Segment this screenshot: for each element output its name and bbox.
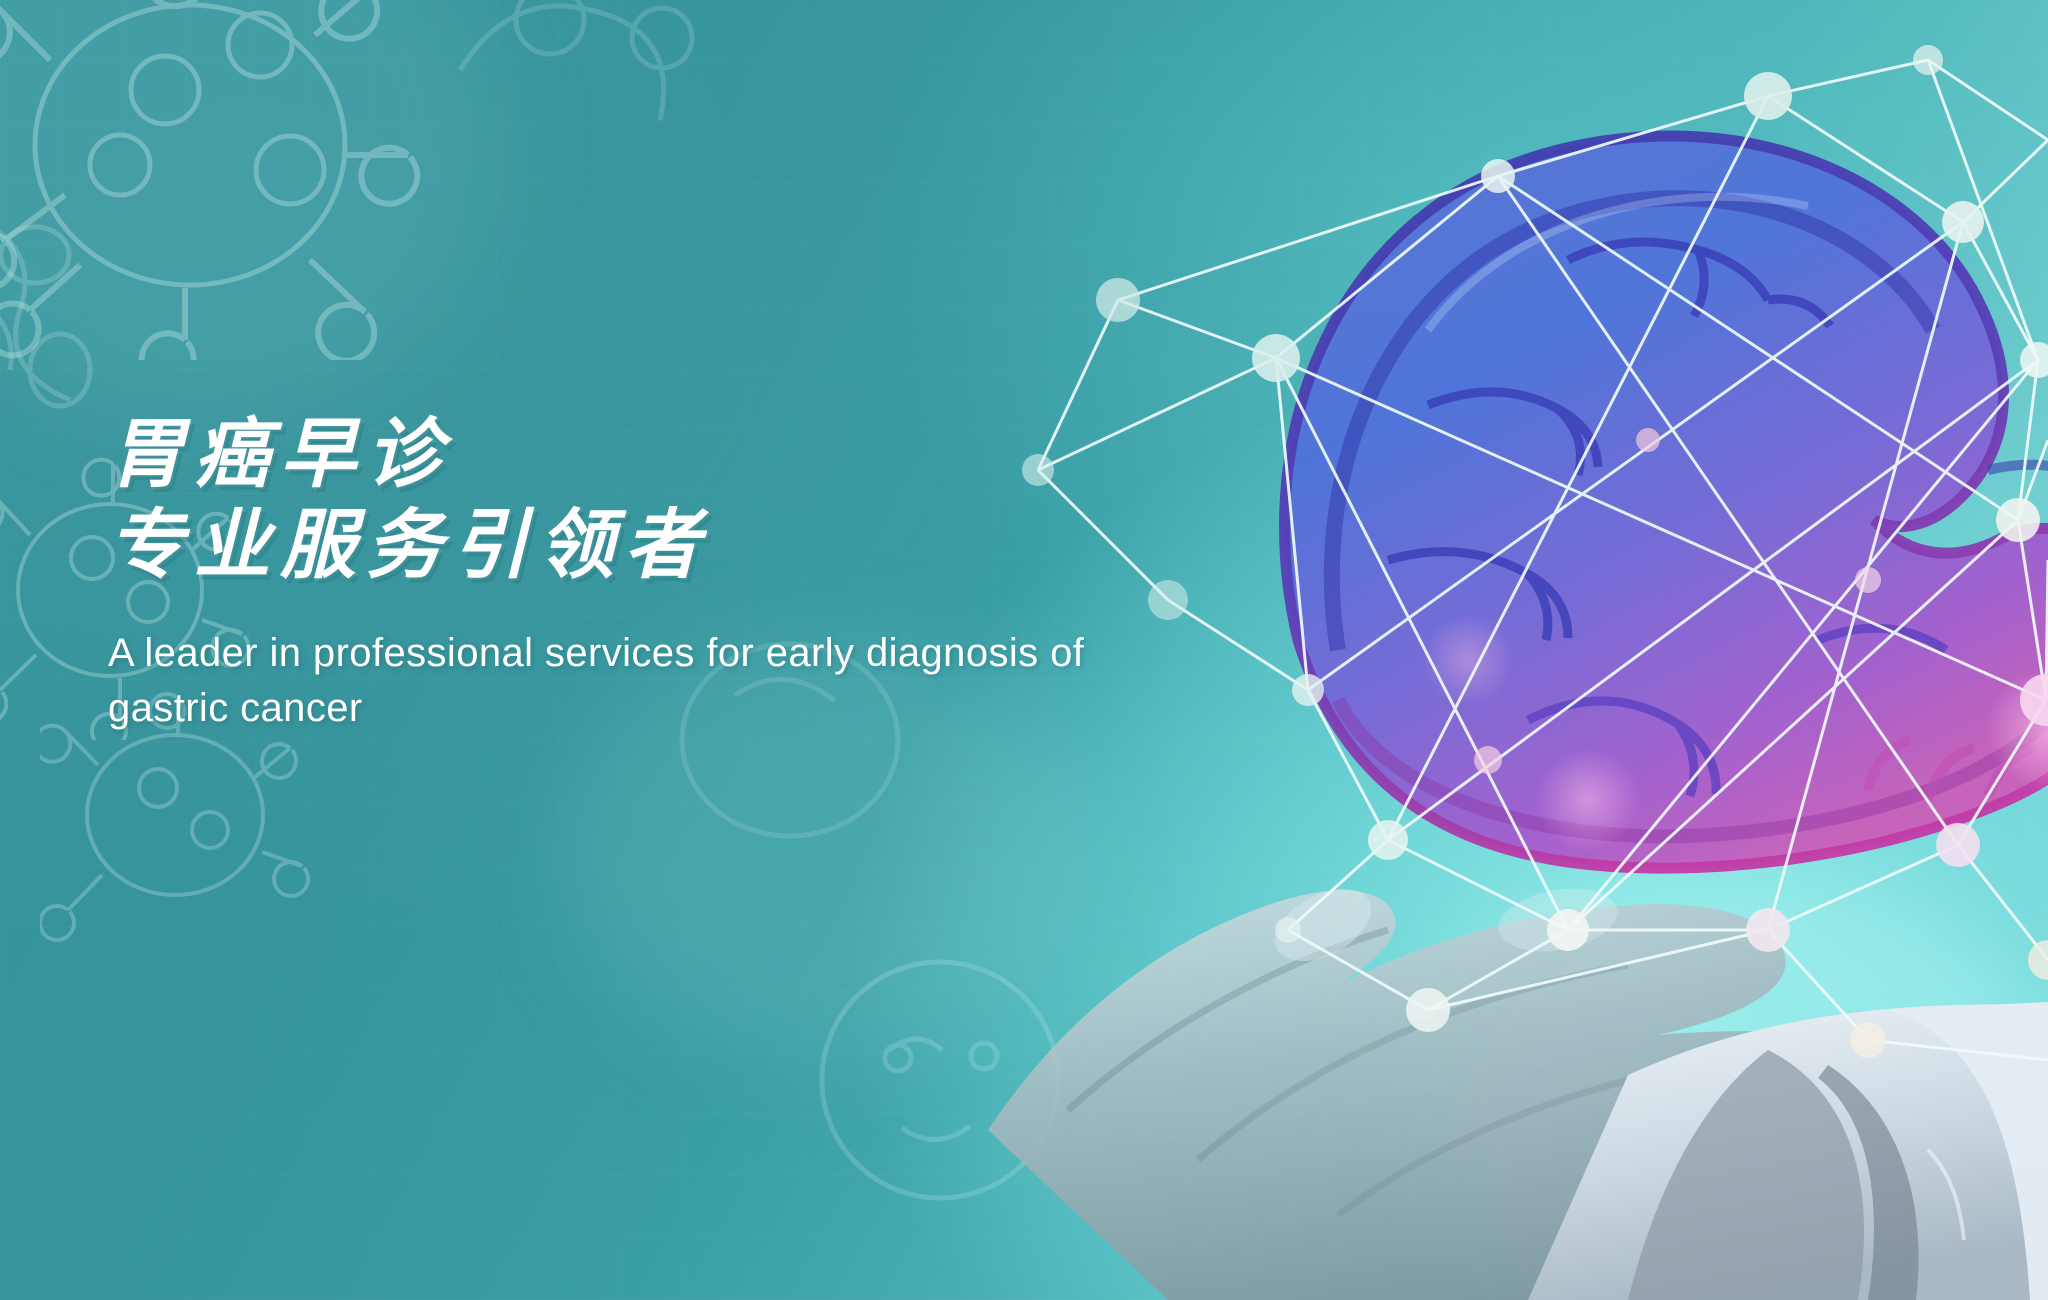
stomach-hologram-artwork bbox=[868, 0, 2048, 1300]
artwork-svg bbox=[868, 0, 2048, 1300]
light-blob-topleft bbox=[0, 0, 500, 420]
cell-bubble-top-center bbox=[430, 0, 770, 210]
hero-banner: 胃癌早诊 专业服务引领者 A leader in professional se… bbox=[0, 0, 2048, 1300]
virus-cell-top-left bbox=[0, 0, 440, 360]
stomach-hologram bbox=[1285, 136, 2048, 868]
